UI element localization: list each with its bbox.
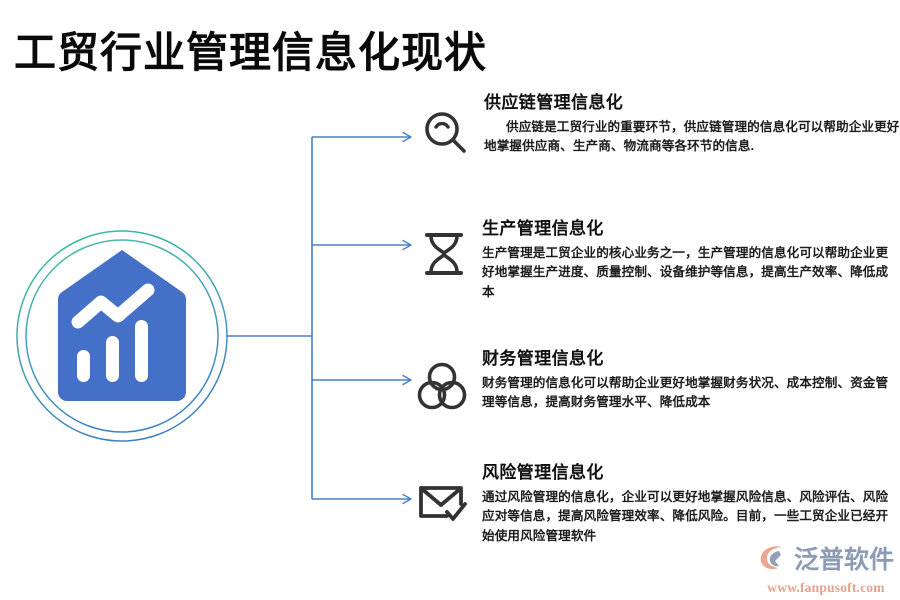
section-body: 财务管理信息化 财务管理的信息化可以帮助企业更好地掌握财务状况、成本控制、资金管… bbox=[482, 348, 894, 413]
watermark-url: www.fanpusoft.com bbox=[757, 580, 895, 596]
house-chart-logo-icon bbox=[58, 250, 186, 401]
section-body: 生产管理信息化 生产管理是工贸企业的核心业务之一，生产管理的信息化可以帮助企业更… bbox=[482, 218, 898, 302]
section-description: 供应链是工贸行业的重要环节，供应链管理的信息化可以帮助企业更好地掌握供应商、生产… bbox=[484, 118, 900, 156]
fanpu-swoosh-logo-icon bbox=[757, 543, 789, 578]
section-description: 财务管理的信息化可以帮助企业更好地掌握财务状况、成本控制、资金管理等信息，提高财… bbox=[482, 374, 894, 412]
section-title: 财务管理信息化 bbox=[482, 348, 894, 369]
three-circles-icon bbox=[414, 358, 470, 414]
section-description: 生产管理是工贸企业的核心业务之一，生产管理的信息化可以帮助企业更好地掌握生产进度… bbox=[482, 244, 898, 301]
page-title: 工贸行业管理信息化现状 bbox=[14, 28, 487, 78]
section-description: 通过风险管理的信息化，企业可以更好地掌握风险信息、风险评估、风险应对等信息，提高… bbox=[482, 488, 898, 545]
section-body: 风险管理信息化 通过风险管理的信息化，企业可以更好地掌握风险信息、风险评估、风险… bbox=[482, 462, 898, 546]
section-title: 生产管理信息化 bbox=[482, 218, 898, 239]
watermark-brand: 泛普软件 bbox=[794, 548, 894, 573]
section-title: 供应链管理信息化 bbox=[484, 92, 900, 113]
infographic-canvas: 工贸行业管理信息化现状 bbox=[0, 0, 900, 600]
section-body: 供应链管理信息化 供应链是工贸行业的重要环节，供应链管理的信息化可以帮助企业更好… bbox=[484, 92, 900, 157]
watermark-logo: 泛普软件 www.fanpusoft.com bbox=[757, 543, 897, 593]
envelope-check-icon bbox=[414, 476, 470, 532]
magnifier-icon bbox=[418, 106, 474, 162]
hourglass-icon bbox=[416, 226, 472, 282]
section-title: 风险管理信息化 bbox=[482, 462, 898, 483]
central-emblem bbox=[14, 228, 230, 444]
